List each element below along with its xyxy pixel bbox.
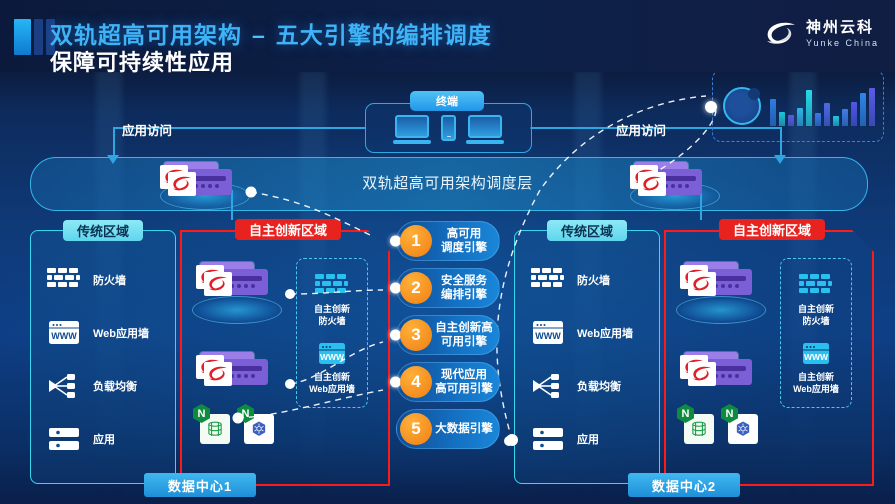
- waf-window-icon: WWW: [529, 318, 567, 348]
- dc1-trad-label-3: 应用: [93, 431, 115, 447]
- svg-text:WWW: WWW: [320, 352, 345, 362]
- dc1-innovation-panel-label-0: 自主创新防火墙: [314, 304, 350, 327]
- load-balancer-icon: [529, 371, 567, 401]
- dc1-server-pedestal: [192, 296, 282, 324]
- slide-header: 双轨超高可用架构–五大引擎的编排调度 保障可持续性应用 神州云科 Yunke C…: [0, 0, 895, 72]
- svg-text:WWW: WWW: [535, 331, 561, 341]
- engine-number-badge: 3: [400, 319, 432, 351]
- bar-4: [797, 108, 803, 126]
- dc2-trad-item-3[interactable]: 应用: [529, 424, 599, 454]
- nginx-kubernetes-icon: [246, 417, 272, 441]
- engine-item-2[interactable]: 2安全服务编排引擎: [396, 268, 500, 308]
- firewall-brick-icon: [45, 265, 83, 295]
- engine-number-badge: 5: [400, 413, 432, 445]
- bar-3: [788, 115, 794, 126]
- dc2-innovation-server-1[interactable]: [684, 352, 754, 386]
- load-balancer-icon-wrap: [529, 371, 567, 401]
- scheduling-layer-label: 双轨超高可用架构调度层: [0, 172, 895, 193]
- application-server-icon: [45, 424, 83, 454]
- engine-label: 大数据引擎: [433, 422, 499, 436]
- waf-window-icon-wrap: WWW: [529, 318, 567, 348]
- dc1-nginx-database-icon[interactable]: N: [200, 414, 230, 444]
- waf-window-icon: WWW: [45, 318, 83, 348]
- dc1-trad-item-1[interactable]: WWWWeb应用墙: [45, 318, 149, 348]
- svg-text:WWW: WWW: [51, 331, 77, 341]
- load-balancer-icon: [45, 371, 83, 401]
- dc1-innovation-zone-title: 自主创新区域: [235, 219, 341, 240]
- bar-7: [824, 103, 830, 126]
- datacenter-1: 传统区域防火墙WWWWeb应用墙负载均衡应用自主创新区域自主创新防火墙WWW自主…: [24, 218, 386, 476]
- dc2-trad-label-0: 防火墙: [577, 272, 610, 288]
- donut-chart-icon: [723, 87, 761, 125]
- dc2-trad-item-1[interactable]: WWWWeb应用墙: [529, 318, 633, 348]
- spiral-logo-icon: [168, 172, 196, 196]
- dc2-trad-label-2: 负载均衡: [577, 378, 621, 394]
- page-title-dash: –: [242, 22, 276, 48]
- brand-logo: 神州云科 Yunke China: [764, 20, 879, 48]
- bar-8: [833, 116, 839, 126]
- nginx-database-icon: [202, 417, 228, 441]
- dc2-innovation-panel-item-0[interactable]: 自主创新防火墙: [797, 271, 835, 327]
- spiral-logo-icon: [204, 362, 232, 386]
- connector-node-icon: [705, 101, 717, 113]
- dc1-nginx-kubernetes-icon[interactable]: N: [244, 414, 274, 444]
- dc2-traditional-zone[interactable]: 传统区域防火墙WWWWeb应用墙负载均衡应用: [514, 230, 660, 484]
- firewall-brick-icon: [529, 265, 567, 295]
- nginx-kubernetes-icon: [730, 417, 756, 441]
- dc1-innovation-panel-label-1: 自主创新Web应用墙: [309, 372, 355, 395]
- accent-bars-icon: [14, 19, 55, 55]
- dc2-traditional-zone-title: 传统区域: [547, 220, 627, 241]
- engine-item-4[interactable]: 4现代应用高可用引擎: [396, 362, 500, 402]
- firewall-brick-icon-cyan: [313, 271, 351, 301]
- phone-icon: [441, 115, 456, 141]
- application-server-icon-wrap: [45, 424, 83, 454]
- page-subtitle: 保障可持续性应用: [50, 45, 234, 77]
- metrics-widget[interactable]: [712, 70, 884, 142]
- bar-10: [851, 102, 857, 126]
- waf-window-icon-wrap: WWW: [45, 318, 83, 348]
- bar-1: [770, 99, 776, 126]
- dc2-server-pedestal: [676, 296, 766, 324]
- firewall-brick-icon-wrap: [529, 265, 567, 295]
- engine-number-badge: 4: [400, 366, 432, 398]
- dc2-innovation-zone-title: 自主创新区域: [719, 219, 825, 240]
- bar-2: [779, 112, 785, 126]
- bar-5: [806, 90, 812, 126]
- application-server-icon-wrap: [529, 424, 567, 454]
- bar-11: [860, 93, 866, 126]
- firewall-brick-icon-wrap: [45, 265, 83, 295]
- laptop-icon: [395, 115, 429, 141]
- engine-label: 高可用调度引擎: [433, 227, 499, 255]
- slide-canvas: 双轨超高可用架构–五大引擎的编排调度 保障可持续性应用 神州云科 Yunke C…: [0, 0, 895, 504]
- dc1-trad-label-2: 负载均衡: [93, 378, 137, 394]
- load-balancer-icon-wrap: [45, 371, 83, 401]
- engine-list: 1高可用调度引擎2安全服务编排引擎3自主创新高可用引擎4现代应用高可用引擎5大数…: [396, 221, 500, 456]
- page-title-sub: 五大引擎的编排调度: [276, 22, 492, 48]
- bar-9: [842, 109, 848, 126]
- brand-name-en: Yunke China: [806, 39, 879, 49]
- waf-window-icon-cyan: WWW: [797, 339, 835, 369]
- bar-12: [869, 88, 875, 126]
- dc2-innovation-server-0[interactable]: [684, 262, 754, 296]
- engine-number-badge: 2: [400, 272, 432, 304]
- terminal-label: 终端: [410, 91, 484, 111]
- dc2-trad-label-3: 应用: [577, 431, 599, 447]
- access-label-right: 应用访问: [616, 120, 666, 139]
- dc1-innovation-panel: 自主创新防火墙WWW自主创新Web应用墙: [296, 258, 368, 408]
- band-server-left: [164, 162, 234, 196]
- engine-item-1[interactable]: 1高可用调度引擎: [396, 221, 500, 261]
- engine-label: 现代应用高可用引擎: [433, 368, 499, 396]
- dc1-trad-item-3[interactable]: 应用: [45, 424, 115, 454]
- dc2-trad-item-2[interactable]: 负载均衡: [529, 371, 621, 401]
- nginx-database-icon: [686, 417, 712, 441]
- dc2-trad-label-1: Web应用墙: [577, 325, 633, 341]
- band-server-right: [634, 162, 704, 196]
- access-label-left: 应用访问: [122, 120, 172, 139]
- application-server-icon: [529, 424, 567, 454]
- dc1-traditional-zone-title: 传统区域: [63, 220, 143, 241]
- dc1-label: 数据中心1: [144, 473, 256, 497]
- dc2-innovation-panel-label-0: 自主创新防火墙: [798, 304, 834, 327]
- engine-label: 安全服务编排引擎: [433, 274, 499, 302]
- bar-chart-icon: [770, 86, 875, 126]
- dc2-innovation-panel-item-1[interactable]: WWW自主创新Web应用墙: [793, 339, 839, 395]
- dc2-label: 数据中心2: [628, 473, 740, 497]
- arrow-down-icon: [107, 155, 119, 164]
- engine-number-badge: 1: [400, 225, 432, 257]
- engine-item-3[interactable]: 3自主创新高可用引擎: [396, 315, 500, 355]
- dc2-innovation-panel-label-1: 自主创新Web应用墙: [793, 372, 839, 395]
- dc2-nginx-database-icon[interactable]: N: [684, 414, 714, 444]
- dc1-traditional-zone[interactable]: 传统区域防火墙WWWWeb应用墙负载均衡应用: [30, 230, 176, 484]
- dc2-innovation-panel: 自主创新防火墙WWW自主创新Web应用墙: [780, 258, 852, 408]
- spiral-logo-icon: [688, 272, 716, 296]
- bar-6: [815, 113, 821, 126]
- laptop-icon: [468, 115, 502, 141]
- dc1-trad-item-2[interactable]: 负载均衡: [45, 371, 137, 401]
- dc1-innovation-server-1[interactable]: [200, 352, 270, 386]
- waf-window-icon-cyan: WWW: [313, 339, 351, 369]
- brand-name-cn: 神州云科: [806, 20, 879, 37]
- dc2-nginx-kubernetes-icon[interactable]: N: [728, 414, 758, 444]
- dc1-innovation-server-0[interactable]: [200, 262, 270, 296]
- dc1-trad-label-1: Web应用墙: [93, 325, 149, 341]
- dc1-innovation-panel-item-0[interactable]: 自主创新防火墙: [313, 271, 351, 327]
- spiral-logo-icon: [204, 272, 232, 296]
- dc2-trad-item-0[interactable]: 防火墙: [529, 265, 610, 295]
- dc1-innovation-panel-item-1[interactable]: WWW自主创新Web应用墙: [309, 339, 355, 395]
- spiral-logo-icon: [688, 362, 716, 386]
- engine-item-5[interactable]: 5大数据引擎: [396, 409, 500, 449]
- svg-text:WWW: WWW: [804, 352, 829, 362]
- arrow-down-icon: [774, 155, 786, 164]
- spiral-logo-icon: [764, 21, 798, 47]
- firewall-brick-icon-cyan: [797, 271, 835, 301]
- dc1-trad-label-0: 防火墙: [93, 272, 126, 288]
- spiral-logo-icon: [638, 172, 666, 196]
- engine-label: 自主创新高可用引擎: [433, 321, 499, 349]
- datacenter-2: 传统区域防火墙WWWWeb应用墙负载均衡应用自主创新区域自主创新防火墙WWW自主…: [508, 218, 870, 476]
- dc1-trad-item-0[interactable]: 防火墙: [45, 265, 126, 295]
